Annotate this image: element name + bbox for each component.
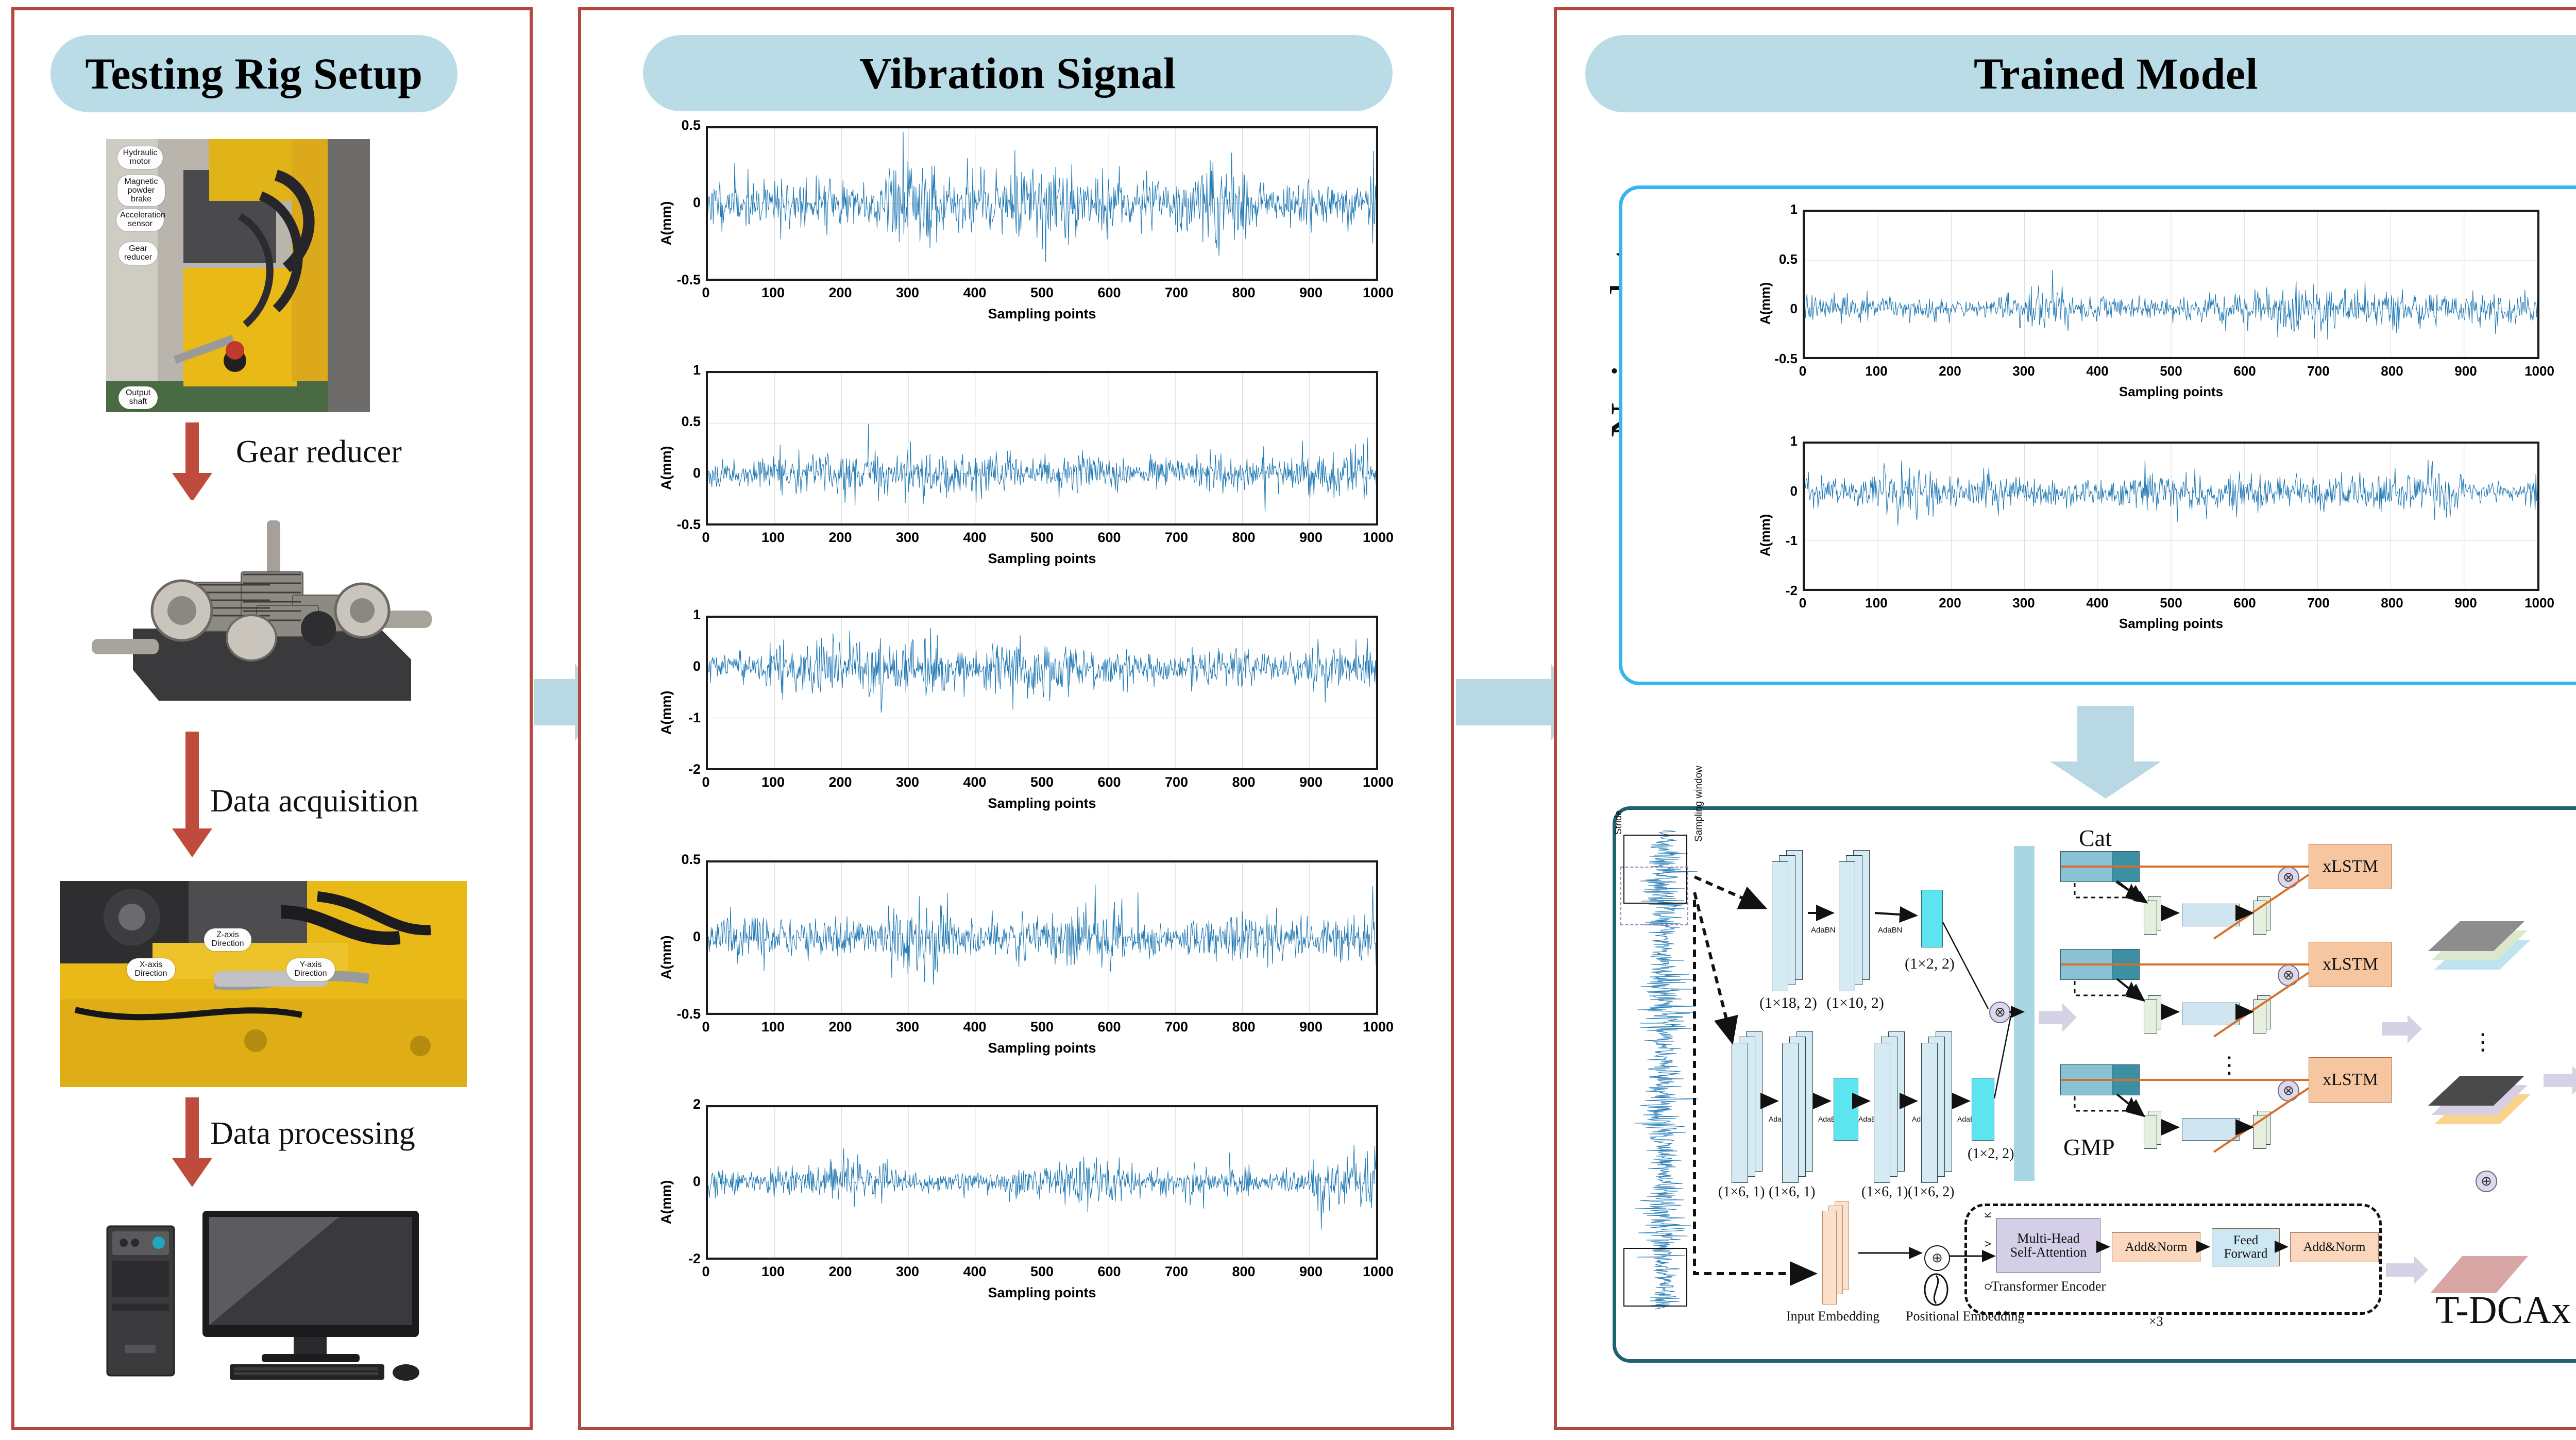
x-tick-label: 1000: [1354, 1264, 1402, 1280]
sampling-window-label: Sampling window: [1693, 766, 1705, 842]
x-tick-label: 500: [2147, 595, 2195, 611]
se-block-2b: [2251, 995, 2276, 1037]
x-axis-label: Sampling points: [1803, 384, 2539, 400]
x-tick-label: 1000: [2516, 595, 2563, 611]
x-tick-label: 300: [2000, 363, 2047, 379]
callout-magnetic-powder-brake: Magnetic powder brake: [117, 175, 165, 206]
y-tick-label: 0: [1740, 483, 1798, 499]
y-tick-label: 0: [648, 195, 701, 211]
x-tick-label: 800: [1220, 285, 1267, 301]
x-tick-label: 200: [817, 285, 864, 301]
x-tick-label: 800: [1220, 530, 1267, 546]
fc-block-2: [2182, 1003, 2240, 1025]
sampling-window-box: [1620, 867, 1688, 925]
x-tick-label: 600: [1086, 1264, 1133, 1280]
x-tick-label: 600: [1086, 530, 1133, 546]
rows-ellipsis: ⋮: [2218, 1052, 2241, 1078]
plot-axes: [706, 371, 1378, 526]
y-axis-label: A(mm): [658, 691, 674, 735]
y-axis-label: A(mm): [1757, 514, 1773, 556]
x-tick-label: 100: [1853, 363, 1900, 379]
xlstm-block-3: xLSTM: [2309, 1057, 2392, 1103]
fc-block-3: [2182, 1118, 2240, 1141]
figure-canvas: Testing Rig Setup Hydraulic motor Mag: [0, 0, 2576, 1440]
kernel-label-bottom-2: (1×6, 1): [1769, 1184, 1815, 1200]
callout-acceleration-sensor: Acceleration sensor: [116, 209, 164, 231]
cat-tensor-3a: [2060, 1064, 2113, 1095]
plot-axes: [706, 126, 1378, 281]
k-label: K: [1983, 1212, 1993, 1218]
y-axis-label: A(mm): [658, 446, 674, 490]
transformer-encoder-label: Transformer Encoder: [1991, 1279, 2106, 1294]
x-tick-label: 400: [2074, 595, 2121, 611]
x-tick-label: 900: [2442, 595, 2489, 611]
x-tick-label: 900: [1287, 530, 1335, 546]
vibration-plot: 10-1-201002003004005006007008009001000A(…: [648, 616, 1399, 827]
x-tick-label: 0: [1779, 595, 1826, 611]
vibration-plot: 10-1-201002003004005006007008009001000A(…: [1740, 442, 2560, 648]
x-axis-label: Sampling points: [706, 306, 1378, 322]
x-tick-label: 700: [2295, 363, 2342, 379]
kernel-label-bottom-3: (1×6, 1): [1861, 1184, 1908, 1200]
x-tick-label: 500: [1019, 1264, 1066, 1280]
y-tick-label: 0.5: [648, 852, 701, 868]
step-label-data-acquisition: Data acquisition: [210, 783, 419, 820]
callout-y-axis-direction: Y-axis Direction: [286, 958, 335, 981]
x-tick-label: 900: [1287, 285, 1335, 301]
x-tick-label: 400: [951, 1264, 998, 1280]
x-tick-label: 100: [750, 285, 797, 301]
x-tick-label: 100: [750, 1264, 797, 1280]
y-axis-label: A(mm): [658, 1180, 674, 1225]
testing-rig-photo: Hydraulic motor Magnetic powder brake Ac…: [106, 139, 370, 412]
x-tick-label: 400: [951, 530, 998, 546]
noisy-data-container: 10.50-0.50100200300400500600700800900100…: [1619, 185, 2576, 685]
y-axis-label: A(mm): [658, 936, 674, 980]
flow-arrow-rig-to-signal: [534, 679, 576, 725]
callout-x-axis-direction: X-axis Direction: [127, 958, 175, 981]
x-tick-label: 0: [682, 1019, 730, 1035]
y-tick-label: 2: [648, 1096, 701, 1112]
x-tick-label: 900: [1287, 1019, 1335, 1035]
vibration-plot: 20-201002003004005006007008009001000A(mm…: [648, 1105, 1399, 1316]
flow-arrow-to-gear-reducer: [185, 422, 199, 474]
x-tick-label: 700: [1153, 1019, 1200, 1035]
x-tick-label: 500: [1019, 285, 1066, 301]
data-acquisition-photo: X-axis Direction Y-axis Direction Z-axis…: [60, 881, 467, 1087]
x-tick-label: 600: [2221, 595, 2268, 611]
conv-block-top-2: [1838, 850, 1874, 989]
x-tick-label: 0: [1779, 363, 1826, 379]
x-tick-label: 100: [750, 1019, 797, 1035]
se-block-2a: [2142, 995, 2166, 1037]
x-tick-label: 400: [951, 1019, 998, 1035]
x-axis-label: Sampling points: [706, 1040, 1378, 1056]
x-tick-label: 300: [884, 285, 931, 301]
concat-feature-bar: [2014, 846, 2035, 1181]
x-tick-label: 400: [2074, 363, 2121, 379]
x-tick-label: 1000: [1354, 1019, 1402, 1035]
multiply-op-3: ⊗: [2278, 1080, 2299, 1102]
cat-tensor-1b: [2112, 851, 2140, 882]
workstation-photo: [92, 1195, 442, 1381]
x-tick-label: 0: [682, 530, 730, 546]
panel-title-trained-model: Trained Model: [1585, 35, 2576, 112]
plot-axes: [1803, 442, 2539, 591]
x-tick-label: 100: [750, 530, 797, 546]
x-tick-label: 1000: [1354, 285, 1402, 301]
pool-block-bottom-1: [1834, 1078, 1858, 1141]
x-axis-label: Sampling points: [1803, 616, 2539, 632]
stride-label: Stride: [1613, 810, 1624, 835]
x-tick-label: 300: [2000, 595, 2047, 611]
panel-title-vibration-signal: Vibration Signal: [643, 35, 1393, 111]
feature-sheet-group-2: [2425, 1068, 2533, 1158]
adabn-label-top-2: AdaBN: [1878, 926, 1903, 935]
conv-block-top-1: [1771, 850, 1807, 989]
x-tick-label: 700: [1153, 1264, 1200, 1280]
se-block-3a: [2142, 1111, 2166, 1152]
x-tick-label: 500: [1019, 1019, 1066, 1035]
x-tick-label: 900: [1287, 774, 1335, 790]
flow-arrow-concat-to-attention: [2039, 1011, 2063, 1024]
encoder-repeat-label: ×3: [2149, 1314, 2163, 1329]
x-tick-label: 200: [817, 1019, 864, 1035]
x-tick-label: 700: [1153, 285, 1200, 301]
vibration-plot: 10.50-0.50100200300400500600700800900100…: [1740, 210, 2560, 416]
y-tick-label: 1: [648, 362, 701, 378]
x-tick-label: 0: [682, 285, 730, 301]
se-block-1a: [2142, 896, 2166, 938]
kernel-label-bottom-4: (1×6, 2): [1908, 1184, 1954, 1200]
x-tick-label: 800: [1220, 1019, 1267, 1035]
x-tick-label: 100: [1853, 595, 1900, 611]
x-tick-label: 800: [2368, 595, 2416, 611]
flow-arrow-signal-to-model: [1456, 679, 1552, 725]
step-label-gear-reducer: Gear reducer: [236, 434, 402, 470]
y-axis-label: A(mm): [1757, 282, 1773, 325]
input-embedding-label: Input Embedding: [1786, 1309, 1879, 1324]
flow-arrow-to-data-acquisition: [185, 732, 199, 829]
panel-testing-rig-setup: Testing Rig Setup Hydraulic motor Mag: [11, 7, 533, 1430]
se-block-3b: [2251, 1111, 2276, 1152]
cat-tensor-1a: [2060, 851, 2113, 882]
positional-encoding-icon: [1923, 1273, 1949, 1307]
x-tick-label: 200: [817, 1264, 864, 1280]
x-tick-label: 1000: [1354, 774, 1402, 790]
x-tick-label: 900: [2442, 363, 2489, 379]
callout-gear-reducer: Gear reducer: [118, 242, 158, 265]
y-tick-label: 1: [1740, 201, 1798, 217]
x-tick-label: 1000: [2516, 363, 2563, 379]
architecture-container: Stride Sampling window (1×18, 2) AdaBN (…: [1613, 806, 2576, 1363]
x-axis-label: Sampling points: [706, 1285, 1378, 1301]
x-tick-label: 500: [1019, 774, 1066, 790]
xlstm-block-1: xLSTM: [2309, 844, 2392, 889]
adabn-label-top-1: AdaBN: [1811, 926, 1836, 935]
y-tick-label: -1: [648, 710, 701, 726]
kernel-label-top-3: (1×2, 2): [1905, 955, 1955, 973]
conv-block-bottom-3: [1873, 1031, 1909, 1181]
x-tick-label: 1000: [1354, 530, 1402, 546]
x-tick-label: 600: [1086, 774, 1133, 790]
panel-title-testing-rig-setup: Testing Rig Setup: [50, 35, 457, 112]
add-norm-block-1: Add&Norm: [2112, 1232, 2200, 1262]
plot-axes: [706, 1105, 1378, 1260]
x-tick-label: 800: [2368, 363, 2416, 379]
x-tick-label: 700: [1153, 530, 1200, 546]
x-tick-label: 500: [2147, 363, 2195, 379]
conv-block-bottom-4: [1920, 1031, 1956, 1181]
x-tick-label: 700: [2295, 595, 2342, 611]
kernel-label-top-2: (1×10, 2): [1826, 994, 1884, 1012]
y-tick-label: 1: [1740, 433, 1798, 449]
x-tick-label: 100: [750, 774, 797, 790]
y-tick-label: 0.5: [1740, 251, 1798, 267]
pool-block-bottom-2: [1972, 1078, 1994, 1141]
cat-tensor-2b: [2112, 949, 2140, 980]
sheets-ellipsis: ⋮: [2471, 1029, 2494, 1055]
callout-z-axis-direction: Z-axis Direction: [204, 928, 251, 951]
add-op-fusion: ⊕: [2476, 1171, 2497, 1192]
x-tick-label: 300: [884, 1019, 931, 1035]
flow-arrow-xlstm-to-sheets: [2382, 1022, 2409, 1036]
x-tick-label: 200: [1926, 363, 1974, 379]
vibration-plot: 0.50-0.501002003004005006007008009001000…: [648, 860, 1399, 1072]
input-embedding-block: [1821, 1201, 1857, 1305]
y-tick-label: 0: [648, 465, 701, 481]
y-tick-label: 0.5: [648, 117, 701, 133]
x-axis-label: Sampling points: [706, 551, 1378, 567]
x-tick-label: 300: [884, 1264, 931, 1280]
kernel-label-bottom-1: (1×6, 1): [1718, 1184, 1765, 1200]
x-tick-label: 300: [884, 530, 931, 546]
cat-tensor-2a: [2060, 949, 2113, 980]
x-tick-label: 400: [951, 774, 998, 790]
multiply-op-2: ⊗: [2278, 964, 2299, 986]
vibration-plot: 10.50-0.50100200300400500600700800900100…: [648, 371, 1399, 582]
y-tick-label: 0: [648, 1174, 701, 1190]
x-tick-label: 700: [1153, 774, 1200, 790]
vibration-plot: 0.50-0.501002003004005006007008009001000…: [648, 126, 1399, 337]
feed-forward-block: FeedForward: [2212, 1228, 2280, 1266]
y-axis-label: A(mm): [658, 201, 674, 246]
add-norm-block-2: Add&Norm: [2290, 1232, 2379, 1262]
x-tick-label: 0: [682, 1264, 730, 1280]
y-tick-label: 0: [648, 929, 701, 945]
y-tick-label: 0.5: [648, 414, 701, 430]
xlstm-block-2: xLSTM: [2309, 942, 2392, 987]
plot-axes: [706, 860, 1378, 1015]
x-axis-label: Sampling points: [706, 795, 1378, 811]
step-label-data-processing: Data processing: [210, 1115, 415, 1152]
x-tick-label: 800: [1220, 1264, 1267, 1280]
plot-axes: [1803, 210, 2539, 359]
x-tick-label: 900: [1287, 1264, 1335, 1280]
x-tick-label: 200: [817, 774, 864, 790]
gear-reducer-photo: [71, 500, 442, 721]
add-op-embedding: ⊕: [1924, 1245, 1950, 1271]
multiply-op-branch: ⊗: [1989, 1002, 2011, 1023]
flow-arrow-noisy-to-architecture: [2077, 706, 2134, 763]
x-tick-label: 600: [1086, 1019, 1133, 1035]
kernel-label-top-1: (1×18, 2): [1759, 994, 1817, 1012]
conv-block-bottom-1: [1731, 1031, 1767, 1181]
model-name-label: T-DCAx: [2435, 1288, 2571, 1333]
x-tick-label: 200: [1926, 595, 1974, 611]
x-tick-label: 300: [884, 774, 931, 790]
kernel-label-bottom-5: (1×2, 2): [1968, 1146, 2014, 1162]
x-tick-label: 600: [2221, 363, 2268, 379]
cat-tensor-3b: [2112, 1064, 2140, 1095]
multiply-op-1: ⊗: [2278, 867, 2299, 888]
y-tick-label: 0: [648, 658, 701, 674]
pool-block-top: [1921, 890, 1943, 947]
flow-arrow-encoder-to-sheet: [2386, 1263, 2415, 1277]
fc-block-1: [2182, 904, 2240, 926]
callout-output-shaft: Output shaft: [118, 386, 158, 409]
multi-head-self-attention-block: Multi-HeadSelf-Attention: [1996, 1218, 2100, 1273]
flow-arrow-sheets-to-classifier: [2544, 1074, 2573, 1087]
se-block-1b: [2251, 896, 2276, 938]
panel-vibration-signal: Vibration Signal 0.50-0.5010020030040050…: [578, 7, 1454, 1430]
feature-sheet-group-1: [2425, 913, 2533, 1003]
gmp-label: GMP: [2063, 1133, 2115, 1161]
x-tick-label: 400: [951, 285, 998, 301]
x-tick-label: 800: [1220, 774, 1267, 790]
panel-trained-model: Trained Model Noisy data 10.50-0.5010020…: [1554, 7, 2576, 1430]
second-window-box: [1623, 1248, 1687, 1307]
x-tick-label: 200: [817, 530, 864, 546]
callout-hydraulic-motor: Hydraulic motor: [117, 146, 163, 169]
flow-arrow-to-data-processing: [185, 1097, 199, 1159]
cat-label: Cat: [2079, 824, 2112, 852]
conv-block-bottom-2: [1781, 1031, 1817, 1181]
v-label: V: [1983, 1241, 1993, 1247]
y-tick-label: 1: [648, 607, 701, 623]
x-tick-label: 500: [1019, 530, 1066, 546]
x-tick-label: 0: [682, 774, 730, 790]
x-tick-label: 600: [1086, 285, 1133, 301]
plot-axes: [706, 616, 1378, 770]
